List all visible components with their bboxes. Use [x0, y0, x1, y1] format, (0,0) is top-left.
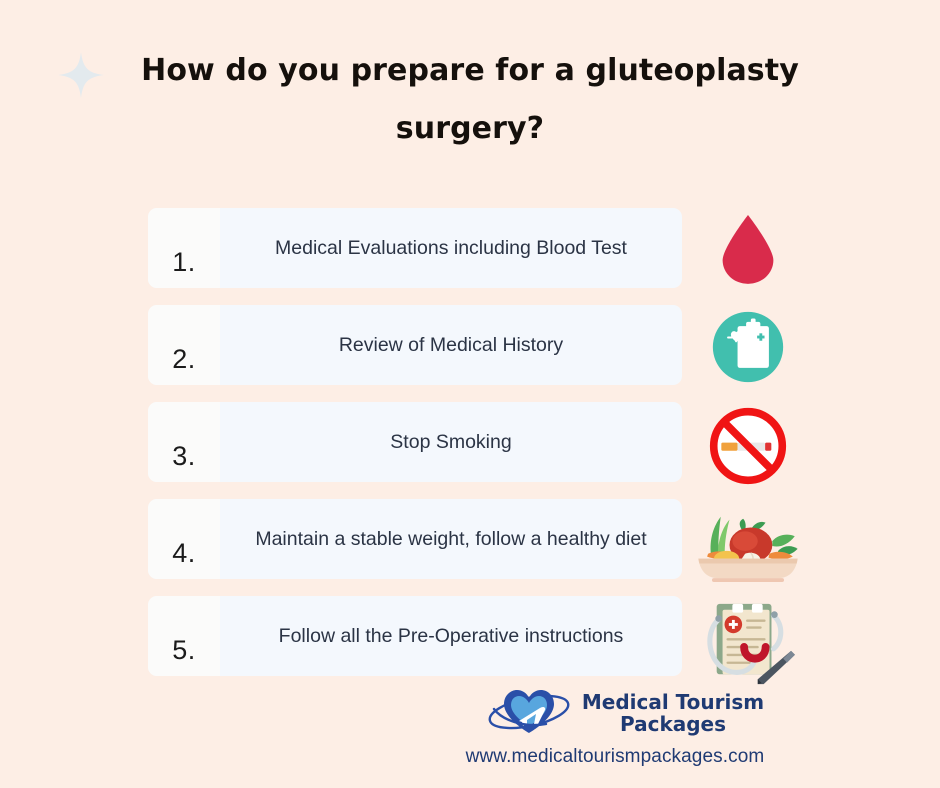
list-item[interactable]: 4. Maintain a stable weight, follow a he… [148, 499, 682, 579]
steps-list: 1. Medical Evaluations including Blood T… [148, 208, 682, 693]
step-number: 3. [148, 402, 220, 482]
step-number: 1. [148, 208, 220, 288]
brand-name-line1: Medical Tourism [582, 690, 764, 714]
list-item[interactable]: 3. Stop Smoking [148, 402, 682, 482]
step-number: 2. [148, 305, 220, 385]
vegetable-basket-icon [692, 496, 804, 593]
blood-drop-icon [692, 200, 804, 297]
footer: Medical Tourism Packages www.medicaltour… [0, 683, 940, 768]
heart-airplane-orbit-logo-icon [486, 683, 572, 742]
no-smoking-icon [692, 397, 804, 494]
step-number: 4. [148, 499, 220, 579]
step-label: Medical Evaluations including Blood Test [220, 208, 682, 288]
step-label: Maintain a stable weight, follow a healt… [220, 499, 682, 579]
step-label: Follow all the Pre-Operative instruction… [220, 596, 682, 676]
brand-name-line2: Packages [582, 713, 764, 735]
brand-lockup: Medical Tourism Packages [0, 683, 940, 742]
list-item[interactable]: 1. Medical Evaluations including Blood T… [148, 208, 682, 288]
medical-clipboard-icon [692, 298, 804, 395]
prescription-stethoscope-icon [692, 594, 804, 691]
brand-name: Medical Tourism Packages [582, 691, 764, 735]
list-item[interactable]: 2. Review of Medical History [148, 305, 682, 385]
page-title: How do you prepare for a gluteoplasty su… [0, 42, 940, 158]
step-label: Stop Smoking [220, 402, 682, 482]
step-label: Review of Medical History [220, 305, 682, 385]
step-number: 5. [148, 596, 220, 676]
website-url[interactable]: www.medicaltourismpackages.com [0, 746, 940, 768]
list-item[interactable]: 5. Follow all the Pre-Operative instruct… [148, 596, 682, 676]
